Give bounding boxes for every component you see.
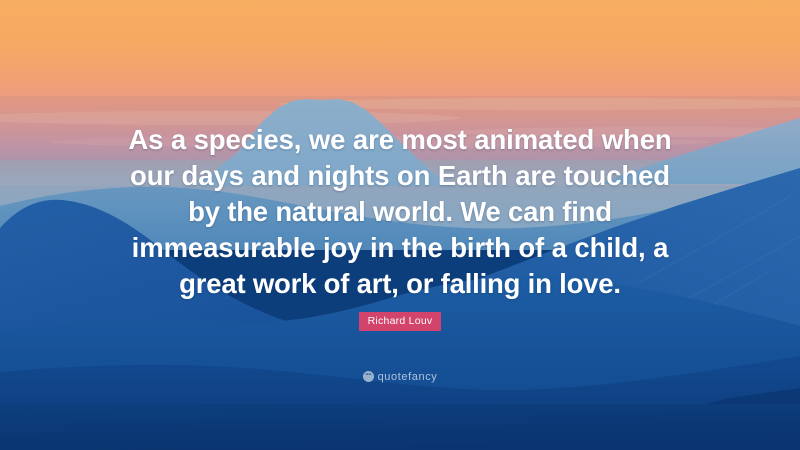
quote-line-3: by the natural world. We can find	[0, 194, 800, 230]
watermark-label: quotefancy	[378, 371, 438, 383]
content-overlay: As a species, we are most animated when …	[0, 0, 800, 450]
quote-card: As a species, we are most animated when …	[0, 0, 800, 450]
quote-line-4: immeasurable joy in the birth of a child…	[0, 230, 800, 266]
watermark-inner[interactable]: ““ quotefancy	[363, 371, 438, 383]
quote-line-5: great work of art, or falling in love.	[0, 266, 800, 302]
quote-mark-icon: ““	[363, 371, 374, 382]
author-attribution: Richard Louv	[0, 311, 800, 331]
author-name-badge[interactable]: Richard Louv	[359, 312, 442, 331]
quote-line-2: our days and nights on Earth are touched	[0, 158, 800, 194]
quote-text: As a species, we are most animated when …	[0, 122, 800, 302]
quote-line-1: As a species, we are most animated when	[0, 122, 800, 158]
watermark: ““ quotefancy	[0, 365, 800, 383]
